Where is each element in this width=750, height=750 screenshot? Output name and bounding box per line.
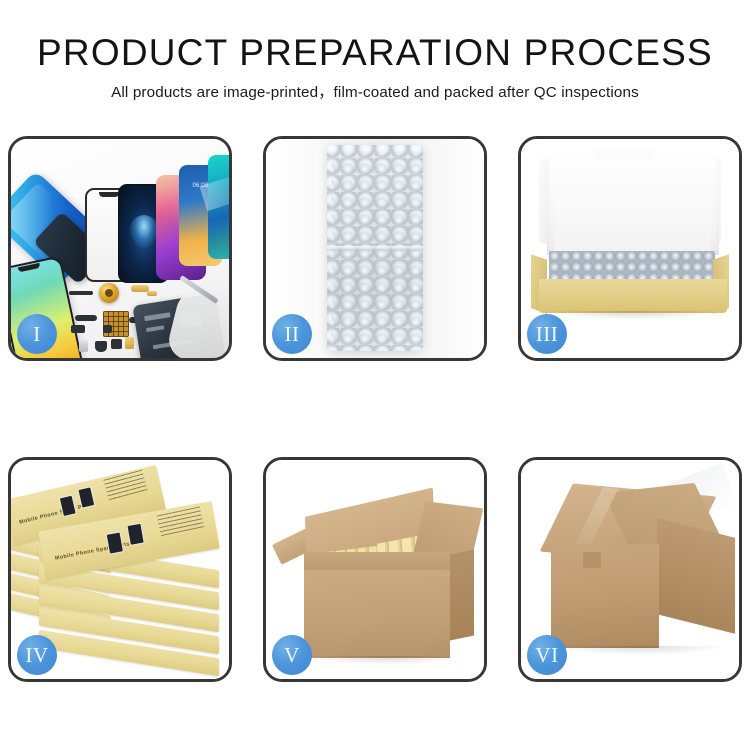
- spec-text-lines: [103, 470, 147, 502]
- drop-shadow: [555, 646, 725, 655]
- step-4-illustration: Mobile Phone Spare Parts Mobile Phone Sp…: [11, 460, 229, 679]
- camera-module-part-icon: [71, 325, 85, 333]
- step-badge-2: II: [272, 314, 312, 354]
- step-panel-4: Mobile Phone Spare Parts Mobile Phone Sp…: [8, 457, 232, 682]
- page-title: PRODUCT PREPARATION PROCESS: [0, 32, 750, 74]
- step-panel-6: VI: [518, 457, 742, 682]
- vibrator-part-icon: [111, 339, 122, 349]
- step-badge-3: III: [527, 314, 567, 354]
- jellyfish-icon: [129, 215, 159, 249]
- sim-tray-part-icon: [79, 339, 88, 352]
- step-badge-6: VI: [527, 635, 567, 675]
- step-panel-5: V: [263, 457, 487, 682]
- notch-icon: [99, 192, 119, 197]
- bubble-pattern-overlay: [331, 153, 423, 351]
- teal-wave-phone-icon: [208, 155, 229, 259]
- carton-right-face: [657, 518, 735, 633]
- drop-shadow: [310, 656, 460, 665]
- step-panel-1: 06:08: [8, 136, 232, 361]
- process-step-grid: 06:08: [8, 136, 742, 682]
- screen-image-icon: [59, 495, 77, 518]
- step-badge-4: IV: [17, 635, 57, 675]
- step-6-illustration: VI: [521, 460, 739, 679]
- product-preparation-infographic: PRODUCT PREPARATION PROCESS All products…: [0, 0, 750, 750]
- step-panel-3: III: [518, 136, 742, 361]
- flex-cable-part-icon: [131, 285, 149, 292]
- sensor-part-icon: [103, 325, 112, 333]
- tape-tab-icon: [583, 552, 601, 568]
- ribbon-cable-part-icon: [75, 315, 97, 321]
- spec-text-lines: [157, 506, 205, 539]
- notch-icon: [18, 263, 41, 272]
- page-subtitle: All products are image-printed，film-coat…: [0, 83, 750, 103]
- step-badge-1: I: [17, 314, 57, 354]
- drop-shadow: [545, 311, 721, 320]
- step-1-illustration: 06:08: [11, 139, 229, 358]
- step-3-illustration: III: [521, 139, 739, 358]
- bubble-wrap-pouch-icon: [327, 145, 423, 351]
- step-badge-5: V: [272, 635, 312, 675]
- screw-tray-icon: [103, 311, 129, 337]
- earpiece-part-icon: [69, 291, 93, 295]
- button-part-icon: [125, 337, 134, 349]
- screen-image-icon: [126, 523, 144, 546]
- step-panel-2: II: [263, 136, 487, 361]
- step-5-illustration: V: [266, 460, 484, 679]
- carton-front-face: [551, 544, 659, 648]
- connector-part-icon: [147, 291, 157, 296]
- screen-image-icon: [106, 531, 124, 554]
- carton-front-face: [304, 570, 450, 658]
- kraft-tray-front-icon: [539, 279, 727, 313]
- header: PRODUCT PREPARATION PROCESS All products…: [0, 32, 750, 103]
- speaker-part-icon: [95, 341, 107, 352]
- foam-liner-icon: [555, 195, 711, 257]
- chip-icon: [146, 325, 164, 332]
- pouch-seam: [327, 246, 423, 251]
- chip-icon: [144, 312, 170, 321]
- step-2-illustration: II: [266, 139, 484, 358]
- tape-tab-icon: [585, 620, 601, 634]
- carton-right-side: [450, 549, 474, 640]
- copper-coil-icon: [99, 283, 119, 303]
